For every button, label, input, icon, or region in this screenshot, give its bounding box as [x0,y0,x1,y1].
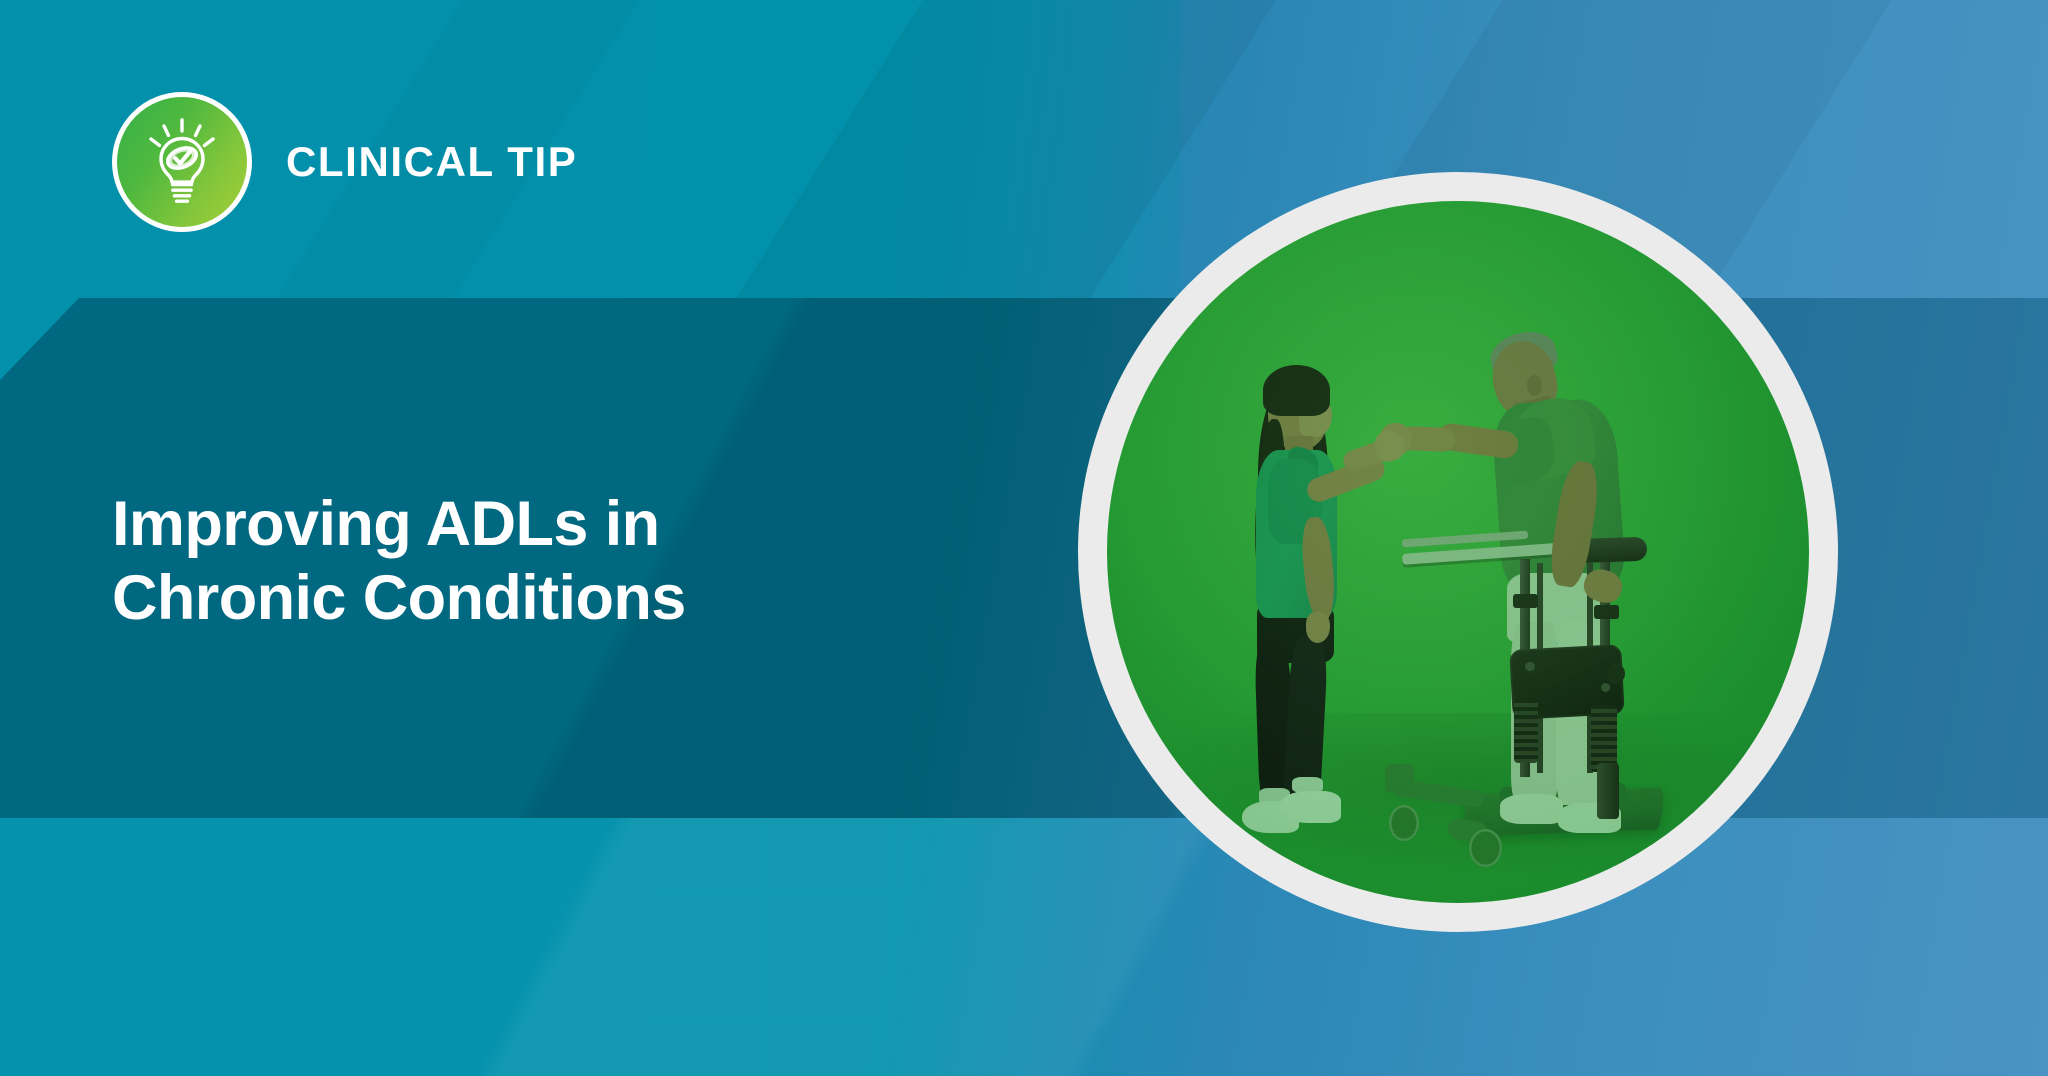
clinical-tip-banner: CLINICAL TIP Improving ADLs in Chronic C… [0,0,2048,1076]
device-knee-pad-bolt [1601,683,1610,692]
photo-circle [1107,201,1809,903]
clinical-tip-badge: CLINICAL TIP [112,92,577,232]
photo-scene [1107,201,1809,903]
device-caster-wheel [1389,805,1418,842]
device-clamp [1513,594,1538,608]
device-adjust-knob [1607,664,1625,682]
device-gas-cylinder [1597,763,1619,819]
badge-label: CLINICAL TIP [286,138,577,186]
photo-ring [1078,172,1838,932]
device-right-spring [1591,705,1616,772]
page-title: Improving ADLs in Chronic Conditions [112,488,686,635]
device-knee-pad-bolt [1525,662,1534,671]
lightbulb-check-icon [112,92,252,232]
therapist-front-shoe [1280,791,1342,823]
device-caster-wheel [1469,829,1501,867]
device-clamp [1594,605,1619,619]
patient-left-shoe [1500,794,1563,823]
device-handle [1385,764,1414,793]
device-left-spring [1514,699,1538,762]
therapist-hair [1263,365,1330,416]
